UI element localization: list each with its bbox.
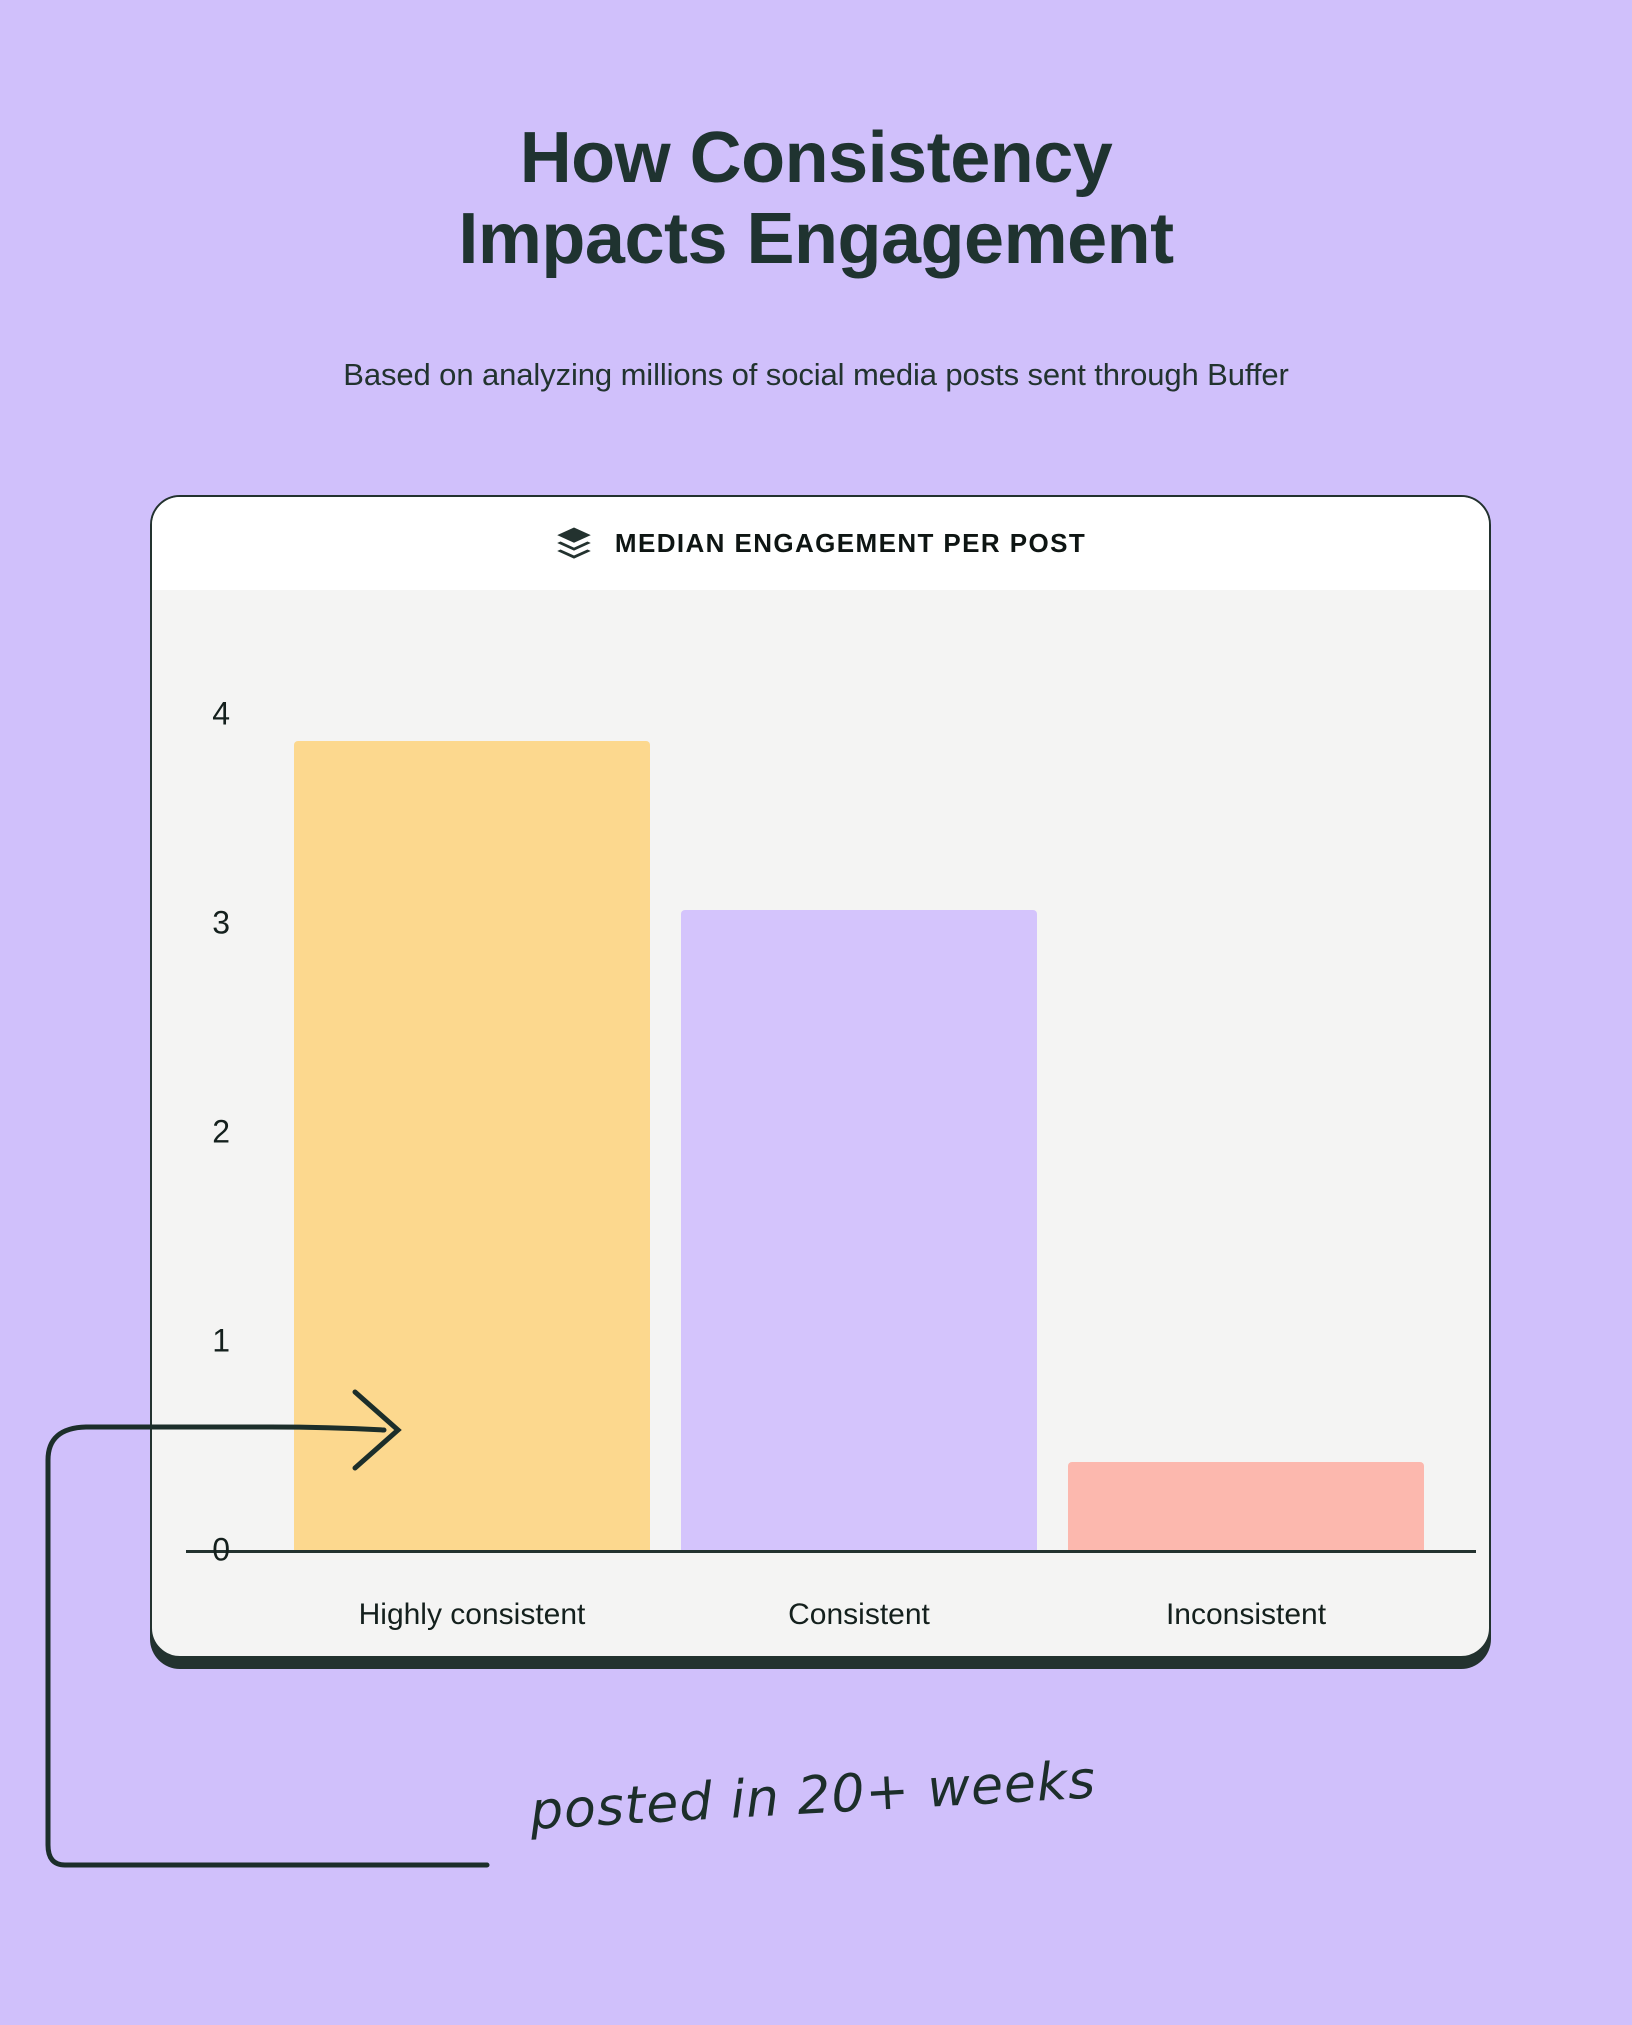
chart-title: MEDIAN ENGAGEMENT PER POST	[615, 528, 1086, 559]
bar-highly-consistent[interactable]	[294, 741, 650, 1550]
handwritten-note: posted in 20+ weeks	[528, 1750, 1097, 1842]
category-label-inconsistent: Inconsistent	[1068, 1598, 1424, 1632]
y-axis-tick-2: 2	[152, 1114, 230, 1151]
y-axis-tick-1: 1	[152, 1323, 230, 1360]
category-label-highly-consistent: Highly consistent	[294, 1598, 650, 1632]
bar-inconsistent[interactable]	[1068, 1462, 1424, 1550]
chart-card: MEDIAN ENGAGEMENT PER POST 01234 Highly …	[150, 495, 1491, 1658]
category-label-consistent: Consistent	[681, 1598, 1037, 1632]
y-axis-tick-3: 3	[152, 905, 230, 942]
page-title-line-1: How Consistency	[520, 118, 1113, 198]
x-axis-baseline	[186, 1550, 1476, 1553]
page-subtitle: Based on analyzing millions of social me…	[0, 357, 1632, 393]
infographic-canvas: How Consistency Impacts Engagement Based…	[0, 0, 1632, 2025]
page-title-line-2: Impacts Engagement	[0, 199, 1632, 280]
chart-card-header: MEDIAN ENGAGEMENT PER POST	[152, 497, 1489, 590]
y-axis-tick-0: 0	[152, 1532, 230, 1569]
y-axis-tick-4: 4	[152, 696, 230, 733]
bar-consistent[interactable]	[681, 910, 1037, 1550]
page-title: How Consistency Impacts Engagement	[0, 118, 1632, 279]
buffer-layers-icon	[555, 525, 593, 563]
chart-plot-area: 01234 Highly consistentConsistentInconsi…	[152, 590, 1491, 1658]
